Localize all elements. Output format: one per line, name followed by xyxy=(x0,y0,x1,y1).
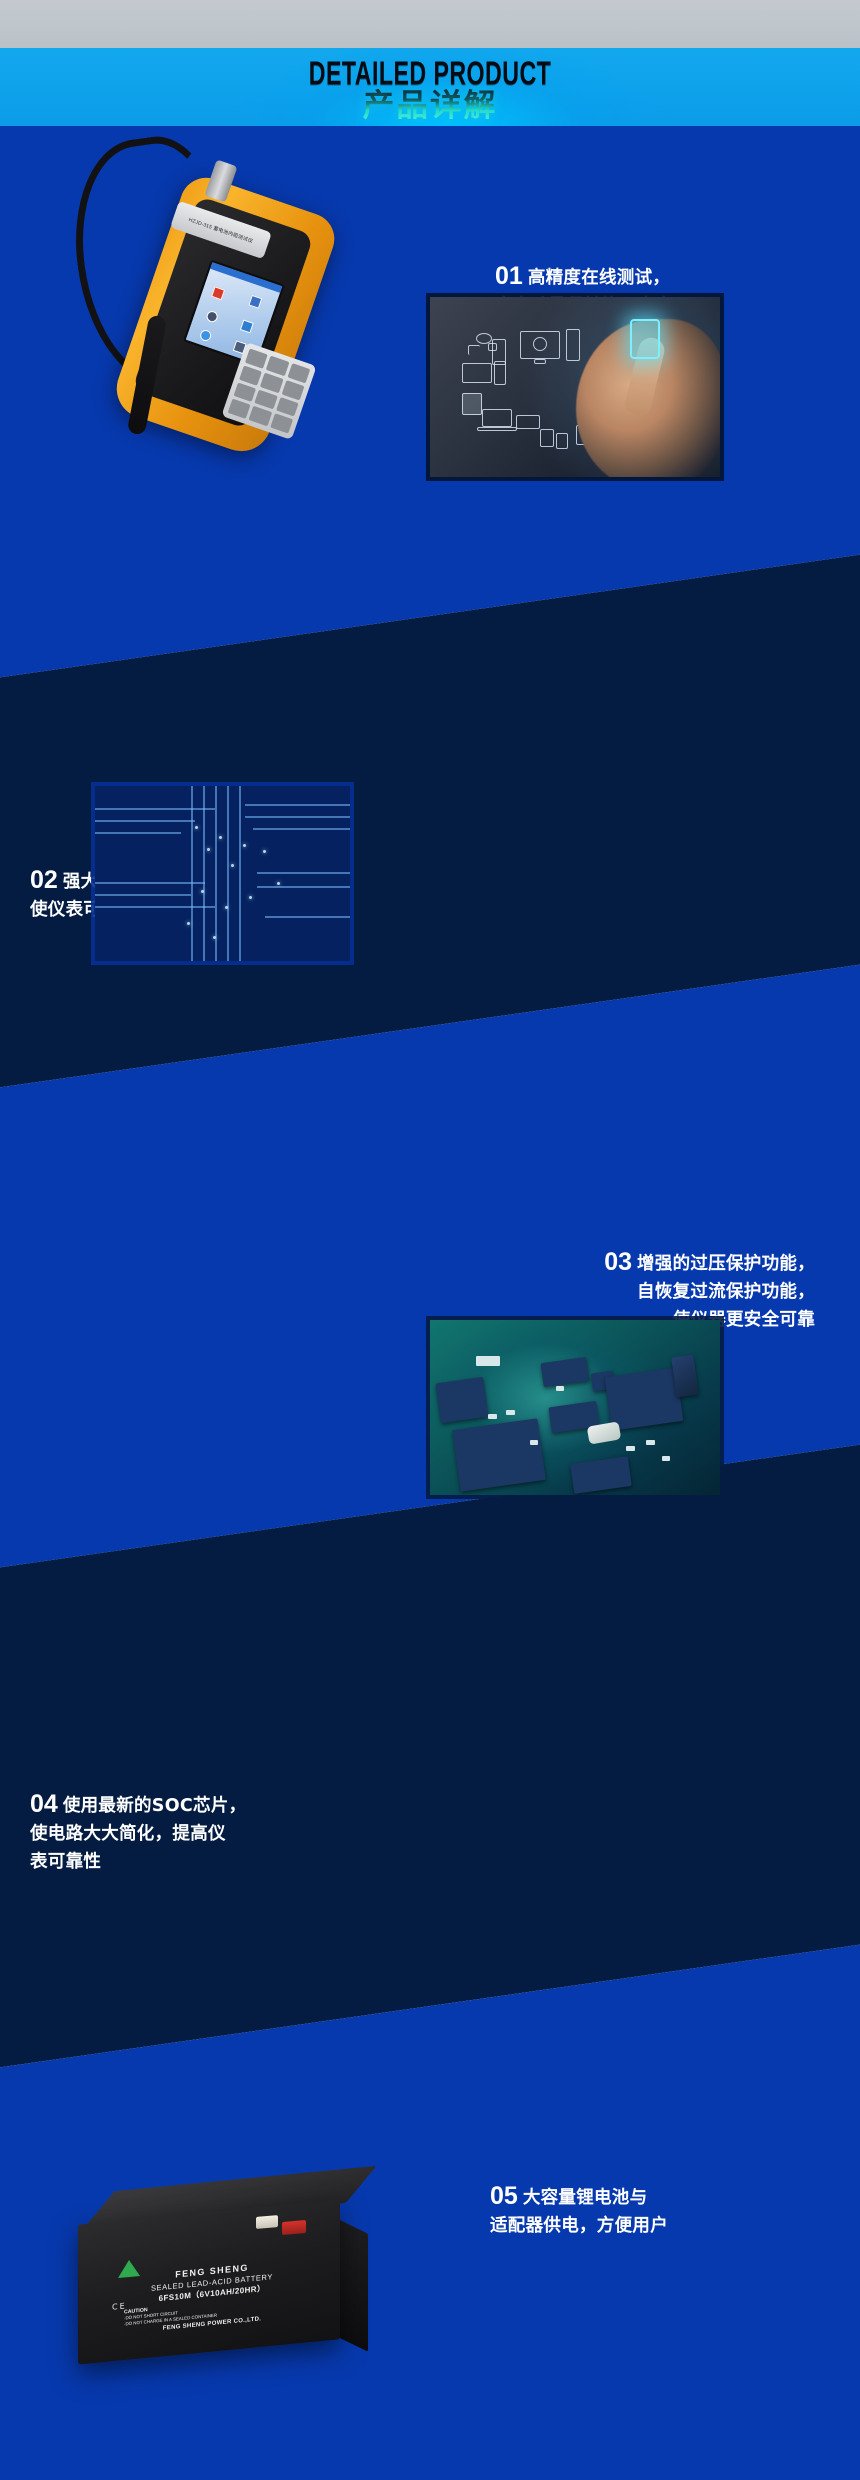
top-grey-strip xyxy=(0,0,860,48)
circuit-trace xyxy=(95,906,215,908)
feature-02-number: 02 xyxy=(30,866,58,894)
feature-05-line-1: 05大容量锂电池与 xyxy=(490,2182,668,2212)
small-chat-icon xyxy=(488,343,497,351)
keypad-key[interactable] xyxy=(228,399,251,419)
solder-pad xyxy=(219,836,222,839)
smd-component xyxy=(506,1410,515,1415)
solder-pad xyxy=(225,906,228,909)
battery-terminal-positive xyxy=(282,2220,306,2235)
screen-icon-2 xyxy=(248,295,262,309)
feature-03-number: 03 xyxy=(604,1248,632,1276)
tv-icon xyxy=(462,363,492,383)
feature-04-line-1: 04使用最新的SOC芯片， xyxy=(30,1790,246,1820)
keypad-key[interactable] xyxy=(245,348,268,368)
green-pcb-chips-image xyxy=(430,1320,720,1495)
keypad-key[interactable] xyxy=(270,413,293,433)
keypad-key[interactable] xyxy=(276,397,299,417)
feature-04-text: 04使用最新的SOC芯片， 使电路大大简化，提高仪 表可靠性 xyxy=(30,1790,246,1876)
feature-03-text-1: 增强的过压保护功能， xyxy=(637,1254,815,1274)
desktop-tower-icon xyxy=(566,329,580,361)
touch-technology-interface-image xyxy=(430,297,720,477)
handheld-battery-tester-image: HZJD-315 蓄电池内阻测试仪 xyxy=(60,130,390,490)
smd-component xyxy=(626,1446,635,1451)
crystal-oscillator xyxy=(587,1421,622,1444)
product-detail-page: DETAILED PRODUCT 产品详解 HZJD-315 蓄电池内阻测试仪 xyxy=(0,0,860,2480)
certification-marks: CE xyxy=(112,2301,127,2311)
keypad-key[interactable] xyxy=(255,389,278,409)
solder-pad xyxy=(231,864,234,867)
feature-03-line-2: 自恢复过流保护功能， xyxy=(470,1278,815,1306)
smd-component xyxy=(476,1356,500,1366)
feature-04-line-2: 使电路大大简化，提高仪 xyxy=(30,1820,246,1848)
circuit-trace xyxy=(191,786,193,961)
keypad-key[interactable] xyxy=(287,363,310,383)
smd-component xyxy=(662,1456,670,1461)
circuit-trace xyxy=(239,786,241,961)
circuit-trace xyxy=(245,804,350,806)
glowing-touch-icon xyxy=(630,319,660,359)
circuit-trace xyxy=(95,894,191,896)
circuit-trace xyxy=(257,886,350,888)
solder-pad xyxy=(187,922,190,925)
solder-pad xyxy=(249,896,252,899)
title-chinese: 产品详解 xyxy=(363,89,498,123)
server-rack-2-icon xyxy=(556,433,568,449)
smd-component xyxy=(556,1386,564,1391)
battery-terminal-negative xyxy=(256,2215,278,2229)
title-banner: DETAILED PRODUCT 产品详解 xyxy=(0,48,860,126)
circuit-trace xyxy=(95,832,181,834)
solder-pad xyxy=(195,826,198,829)
laptop-icon xyxy=(482,409,512,427)
blue-circuit-board-image xyxy=(95,786,350,961)
keypad-key[interactable] xyxy=(281,380,304,400)
feature-05-line-2: 适配器供电，方便用户 xyxy=(490,2212,668,2240)
server-icon xyxy=(494,361,506,385)
feature-04-line-3: 表可靠性 xyxy=(30,1848,246,1876)
circuit-trace xyxy=(95,820,195,822)
feature-05-number: 05 xyxy=(490,2182,518,2210)
feature-04-text-1: 使用最新的SOC芯片， xyxy=(63,1796,247,1816)
keypad-key[interactable] xyxy=(249,406,272,426)
circuit-trace xyxy=(95,808,215,810)
feature-04-number: 04 xyxy=(30,1790,58,1818)
circuit-trace xyxy=(227,786,229,961)
circuit-trace xyxy=(95,882,205,884)
feature-01-text-1: 高精度在线测试， xyxy=(528,268,670,288)
smd-component xyxy=(646,1440,655,1445)
solder-pad xyxy=(243,844,246,847)
keypad-key[interactable] xyxy=(233,382,256,402)
ic-chip xyxy=(435,1377,488,1423)
smd-component xyxy=(488,1414,497,1419)
solder-pad xyxy=(207,848,210,851)
smd-component xyxy=(530,1440,538,1445)
connector-block xyxy=(671,1355,698,1398)
screen-icon-5 xyxy=(199,328,213,342)
screen-icon-3 xyxy=(205,310,219,324)
circuit-trace xyxy=(253,828,350,830)
feature-05-text-1: 大容量锂电池与 xyxy=(523,2188,648,2208)
antenna-icon xyxy=(468,345,480,355)
keypad-key[interactable] xyxy=(260,372,283,392)
feature-05-text: 05大容量锂电池与 适配器供电，方便用户 xyxy=(490,2182,668,2240)
solder-pad xyxy=(213,936,216,939)
circuit-trace xyxy=(265,916,350,918)
title-wrap: DETAILED PRODUCT 产品详解 xyxy=(0,48,860,126)
monitor-stand-icon xyxy=(534,359,546,364)
feature-01-line-1: 01高精度在线测试， xyxy=(495,262,673,292)
sms-bubble-icon xyxy=(516,415,540,429)
circuit-trace xyxy=(257,872,350,874)
screen-icon-4 xyxy=(240,319,254,333)
wifi-icon xyxy=(533,337,547,351)
ic-chip-large xyxy=(605,1367,684,1430)
feature-03-line-1: 03增强的过压保护功能， xyxy=(470,1248,815,1278)
solder-pad xyxy=(277,882,280,885)
keypad-key[interactable] xyxy=(239,365,262,385)
ic-chip xyxy=(570,1456,632,1494)
title-english: DETAILED PRODUCT xyxy=(309,55,552,92)
feature-01-number: 01 xyxy=(495,262,523,290)
solder-pad xyxy=(263,850,266,853)
laptop-base-icon xyxy=(477,427,517,431)
document-stack-icon xyxy=(462,393,482,415)
solder-pad xyxy=(201,890,204,893)
ic-chip xyxy=(541,1357,590,1387)
circuit-trace xyxy=(245,816,350,818)
keypad-key[interactable] xyxy=(266,356,289,376)
screen-icon-1 xyxy=(211,286,225,300)
circuit-trace xyxy=(215,786,217,961)
sealed-lead-acid-battery-image: FENG SHENG SEALED LEAD-ACID BATTERY 6FS1… xyxy=(60,2174,390,2389)
circuit-trace xyxy=(203,786,205,961)
server-rack-icon xyxy=(540,429,554,447)
ic-chip-large xyxy=(452,1418,546,1491)
